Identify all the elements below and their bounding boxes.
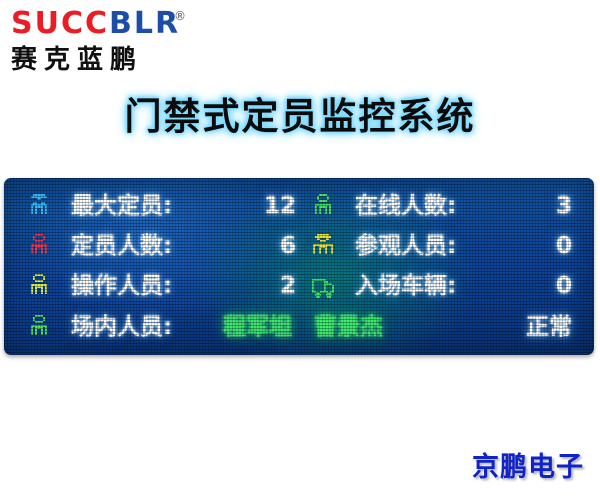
led-value-max-capacity: 12 xyxy=(200,190,296,222)
person-icon xyxy=(26,272,52,300)
status-badge: 正常 xyxy=(526,311,572,343)
led-value-visitors: 0 xyxy=(476,230,572,262)
truck-icon xyxy=(310,272,336,300)
logo-wordmark: SUCCBLR xyxy=(11,8,180,40)
led-row-visitors: 参观人员: 0 xyxy=(310,230,572,264)
led-row-occupants: 场内人员: 程军坦曹景杰 正常 xyxy=(26,311,572,345)
footer-brand: 京鹏电子 xyxy=(472,445,584,484)
occupant-name-list: 程军坦曹景杰 xyxy=(223,311,383,343)
person-helmet-icon xyxy=(26,192,52,220)
led-display-panel: 最大定员: 12 定员人数: 6 xyxy=(4,178,594,355)
registered-trademark-icon: ® xyxy=(174,9,186,23)
led-value-operators: 2 xyxy=(200,270,296,302)
page-title: 门禁式定员监控系统 xyxy=(0,86,600,140)
person-icon xyxy=(26,232,52,260)
led-row-vehicles: 入场车辆: 0 xyxy=(310,270,572,304)
led-row-assigned-staff: 定员人数: 6 xyxy=(26,230,296,264)
led-label-operators: 操作人员: xyxy=(71,270,172,302)
led-value-vehicles: 0 xyxy=(476,270,572,302)
led-label-assigned-staff: 定员人数: xyxy=(71,230,172,262)
led-row-operators: 操作人员: 2 xyxy=(26,270,296,304)
led-row-max-capacity: 最大定员: 12 xyxy=(26,190,296,224)
person-icon xyxy=(310,192,336,220)
led-value-assigned-staff: 6 xyxy=(200,230,296,262)
company-logo: SUCCBLR ® 赛克蓝鹏 xyxy=(8,8,248,74)
led-label-occupants: 场内人员: xyxy=(71,311,172,343)
led-value-online-count: 3 xyxy=(476,190,572,222)
led-label-online-count: 在线人数: xyxy=(355,190,456,222)
led-label-max-capacity: 最大定员: xyxy=(71,190,172,222)
led-content: 最大定员: 12 定员人数: 6 xyxy=(4,178,594,355)
occupant-name: 程军坦 xyxy=(223,314,292,340)
occupant-name: 曹景杰 xyxy=(314,314,383,340)
person-visitor-icon xyxy=(310,232,336,260)
logo-wordmark-part-1: SUCC xyxy=(11,6,109,41)
person-icon xyxy=(26,313,52,341)
logo-wordmark-part-2: BLR xyxy=(109,6,180,41)
logo-chinese-name: 赛克蓝鹏 xyxy=(11,39,143,76)
led-row-online-count: 在线人数: 3 xyxy=(310,190,572,224)
led-label-visitors: 参观人员: xyxy=(355,230,456,262)
led-label-vehicles: 入场车辆: xyxy=(355,270,456,302)
